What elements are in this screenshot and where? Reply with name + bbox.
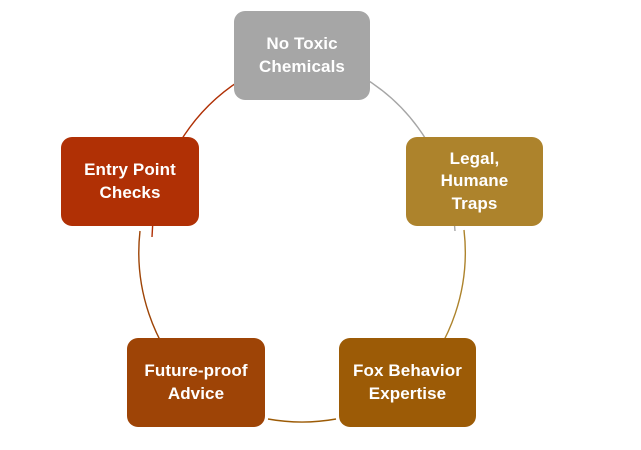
node-label-legal-humane-traps: Legal, Humane Traps xyxy=(441,148,509,215)
node-label-no-toxic-chemicals: No Toxic Chemicals xyxy=(259,33,345,78)
node-entry-point-checks[interactable]: Entry Point Checks xyxy=(61,137,199,226)
node-label-entry-point-checks: Entry Point Checks xyxy=(84,159,176,204)
node-no-toxic-chemicals[interactable]: No Toxic Chemicals xyxy=(234,11,370,100)
cycle-diagram: No Toxic Chemicals Legal, Humane Traps F… xyxy=(0,0,641,450)
node-label-future-proof-advice: Future-proof Advice xyxy=(144,360,247,405)
node-future-proof-advice[interactable]: Future-proof Advice xyxy=(127,338,265,427)
node-label-fox-behavior-expertise: Fox Behavior Expertise xyxy=(353,360,462,405)
node-legal-humane-traps[interactable]: Legal, Humane Traps xyxy=(406,137,543,226)
arc-fox-to-future xyxy=(268,419,336,422)
node-fox-behavior-expertise[interactable]: Fox Behavior Expertise xyxy=(339,338,476,427)
